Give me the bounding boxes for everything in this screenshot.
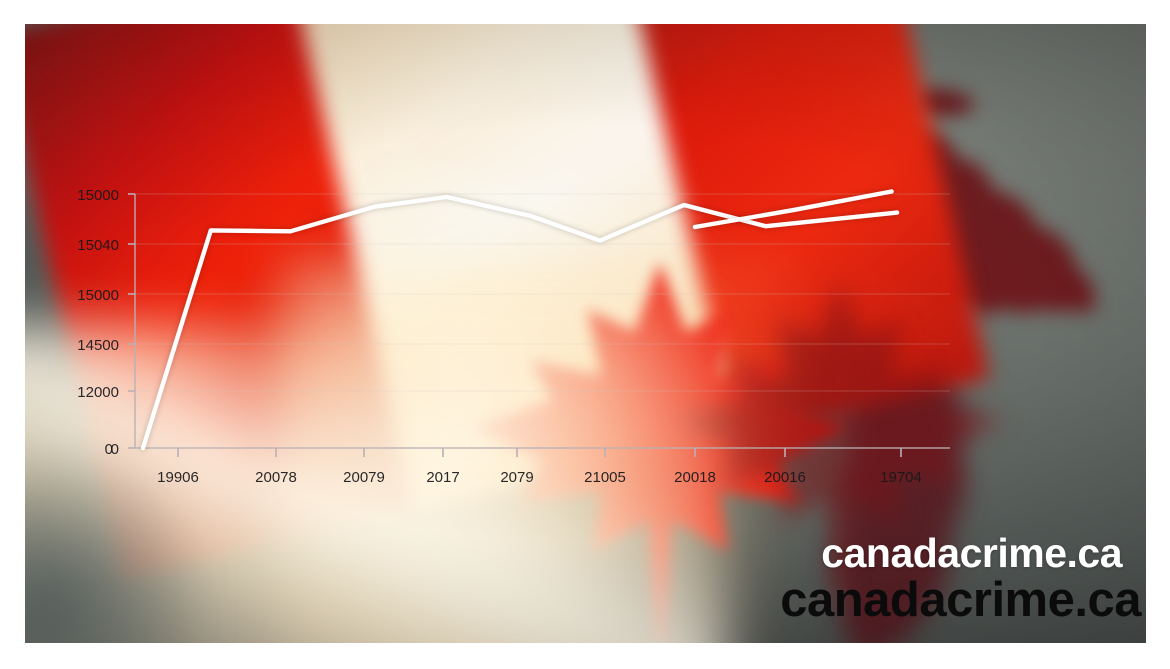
illustration-page: 150001504015000145001200000 199062007820… — [0, 0, 1170, 669]
x-tick-label: 19704 — [880, 469, 922, 486]
chart-line-1 — [143, 197, 897, 448]
image-canvas: 150001504015000145001200000 199062007820… — [25, 24, 1146, 643]
x-tick-label: 20018 — [674, 469, 716, 486]
x-tick-label: 21005 — [584, 469, 626, 486]
chart-series — [143, 192, 897, 449]
y-tick-label: 14500 — [77, 337, 119, 354]
x-tick-label: 20079 — [343, 469, 385, 486]
y-tick-label-zero-extra: 0 — [105, 441, 113, 458]
chart-y-ticks — [128, 194, 135, 448]
x-tick-label: 2017 — [426, 469, 459, 486]
x-tick-label: 2079 — [500, 469, 533, 486]
y-tick-label: 15000 — [77, 187, 119, 204]
chart-x-ticks — [178, 448, 901, 457]
chart-y-tick-labels: 150001504015000145001200000 — [77, 187, 119, 458]
y-tick-label: 15040 — [77, 237, 119, 254]
x-tick-label: 20078 — [255, 469, 297, 486]
chart-x-tick-labels: 1990620078200792017207921005200182001619… — [157, 469, 922, 486]
y-tick-label: 15000 — [77, 287, 119, 304]
watermark-primary: canadacrime.ca — [821, 530, 1122, 577]
x-tick-label: 20016 — [764, 469, 806, 486]
x-tick-label: 19906 — [157, 469, 199, 486]
y-tick-label: 12000 — [77, 384, 119, 401]
watermark-secondary: canadacrime.ca — [780, 572, 1141, 628]
